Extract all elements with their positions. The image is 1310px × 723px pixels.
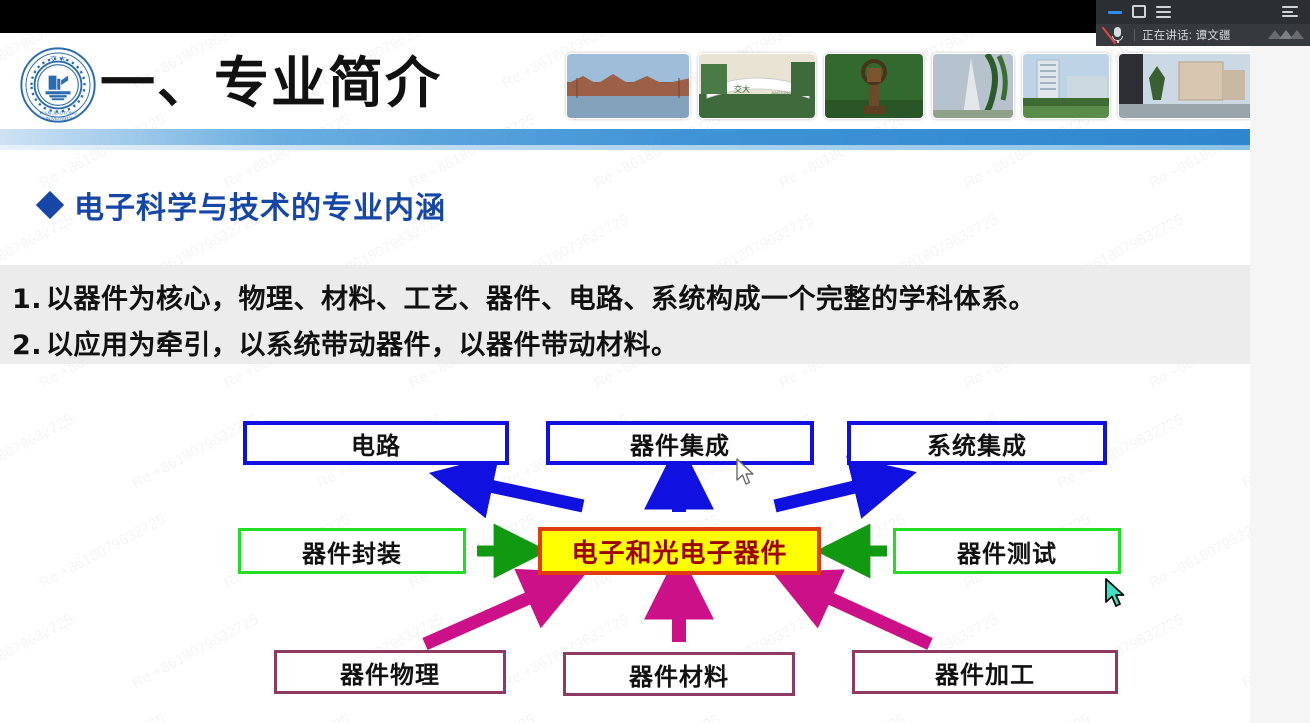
diagram-box-circuit[interactable]: 电路 — [243, 421, 509, 465]
meeting-window-controls — [1096, 0, 1310, 24]
slide-header: 交 大 XI'AN JIAOTONG UNIVERSITY 一、专业简介 — [0, 33, 1250, 133]
diagram-box-device-integration-label: 器件集成 — [630, 426, 730, 461]
restore-window-icon[interactable] — [1132, 5, 1146, 18]
key-point-2: 2.以应用为牵引，以系统带动器件，以器件带动材料。 — [12, 323, 679, 362]
diagram-box-device-testing-label: 器件测试 — [957, 534, 1057, 569]
diagram-box-device-testing[interactable]: 器件测试 — [893, 528, 1121, 574]
svg-text:交大: 交大 — [734, 84, 750, 94]
speaking-status-text: 正在讲话: 谭文疆 — [1142, 27, 1231, 43]
diagram-box-device-fabrication-label: 器件加工 — [935, 655, 1035, 690]
divider — [1134, 29, 1135, 41]
key-point-1-index: 1. — [12, 284, 46, 315]
page-title: 一、专业简介 — [100, 49, 442, 117]
diagram-box-circuit-label: 电路 — [351, 426, 401, 461]
minimize-icon[interactable] — [1108, 11, 1122, 14]
diagram-box-device-packaging-label: 器件封装 — [302, 534, 402, 569]
diagram-box-device-physics[interactable]: 器件物理 — [274, 650, 506, 694]
svg-text:UNIVERSITY: UNIVERSITY — [44, 116, 74, 122]
photo-campus-monument — [932, 53, 1014, 119]
diamond-bullet-icon — [36, 191, 64, 219]
presentation-slide: Re +8618079632725Re +8618079632725Re +86… — [0, 33, 1250, 723]
diagram-box-system-integration[interactable]: 系统集成 — [847, 421, 1107, 465]
diagram-box-device-materials[interactable]: 器件材料 — [563, 652, 795, 696]
meeting-app-logo-icon — [1264, 28, 1304, 43]
diagram-box-device-materials-label: 器件材料 — [629, 657, 729, 692]
diagram-box-device-integration[interactable]: 器件集成 — [546, 421, 814, 465]
photo-campus-tower — [1022, 53, 1110, 119]
diagram-box-core-devices-label: 电子和光电子器件 — [571, 533, 787, 570]
photo-campus-gate: 交大 JIAOTONG — [698, 53, 816, 119]
expand-panel-icon[interactable] — [1282, 6, 1298, 19]
microphone-muted-icon[interactable] — [1106, 26, 1132, 44]
hamburger-menu-icon[interactable] — [1156, 6, 1171, 18]
meeting-floating-panel[interactable]: 正在讲话: 谭文疆 — [1096, 0, 1310, 46]
campus-photo-strip: 交大 JIAOTONG — [566, 53, 1250, 119]
diagram-box-device-physics-label: 器件物理 — [340, 655, 440, 690]
diagram-box-system-integration-label: 系统集成 — [927, 426, 1027, 461]
right-background-pane — [1250, 0, 1310, 723]
diagram-box-device-fabrication[interactable]: 器件加工 — [852, 650, 1118, 694]
photo-campus-lake-building — [566, 53, 690, 119]
concept-diagram: 电路 器件集成 系统集成 器件封装 电子和光电子器件 器件测试 器件物理 — [0, 364, 1250, 723]
svg-text:JIAOTONG: JIAOTONG — [771, 90, 791, 95]
key-point-1-text: 以器件为核心，物理、材料、工艺、器件、电路、系统构成一个完整的学科体系。 — [46, 284, 1036, 315]
svg-text:交 大: 交 大 — [50, 55, 66, 64]
speaking-status-bar: 正在讲话: 谭文疆 — [1096, 24, 1310, 46]
header-accent-bar-light — [0, 145, 1250, 150]
key-points-panel: 1.以器件为核心，物理、材料、工艺、器件、电路、系统构成一个完整的学科体系。 2… — [0, 265, 1250, 364]
screen: Re +8618079632725Re +8618079632725Re +86… — [0, 0, 1310, 723]
section-bullet-label: 电子科学与技术的专业内涵 — [74, 183, 446, 227]
xjtu-logo-icon: 交 大 XI'AN JIAOTONG UNIVERSITY — [19, 46, 97, 124]
diagram-box-core-devices[interactable]: 电子和光电子器件 — [538, 527, 821, 575]
pointer-arrow-teal-cursor — [1104, 578, 1128, 610]
photo-campus-plaza — [1118, 53, 1250, 119]
key-point-2-index: 2. — [12, 330, 46, 361]
key-point-2-text: 以应用为牵引，以系统带动器件，以器件带动材料。 — [46, 330, 679, 361]
photo-campus-lamp — [824, 53, 924, 119]
key-point-1: 1.以器件为核心，物理、材料、工艺、器件、电路、系统构成一个完整的学科体系。 — [12, 277, 1036, 316]
header-accent-bar — [0, 129, 1250, 145]
section-bullet: 电子科学与技术的专业内涵 — [40, 183, 446, 227]
diagram-box-device-packaging[interactable]: 器件封装 — [238, 528, 466, 574]
pointer-arrow-white-cursor — [735, 458, 757, 488]
svg-text:XI'AN JIAOTONG: XI'AN JIAOTONG — [39, 111, 77, 117]
